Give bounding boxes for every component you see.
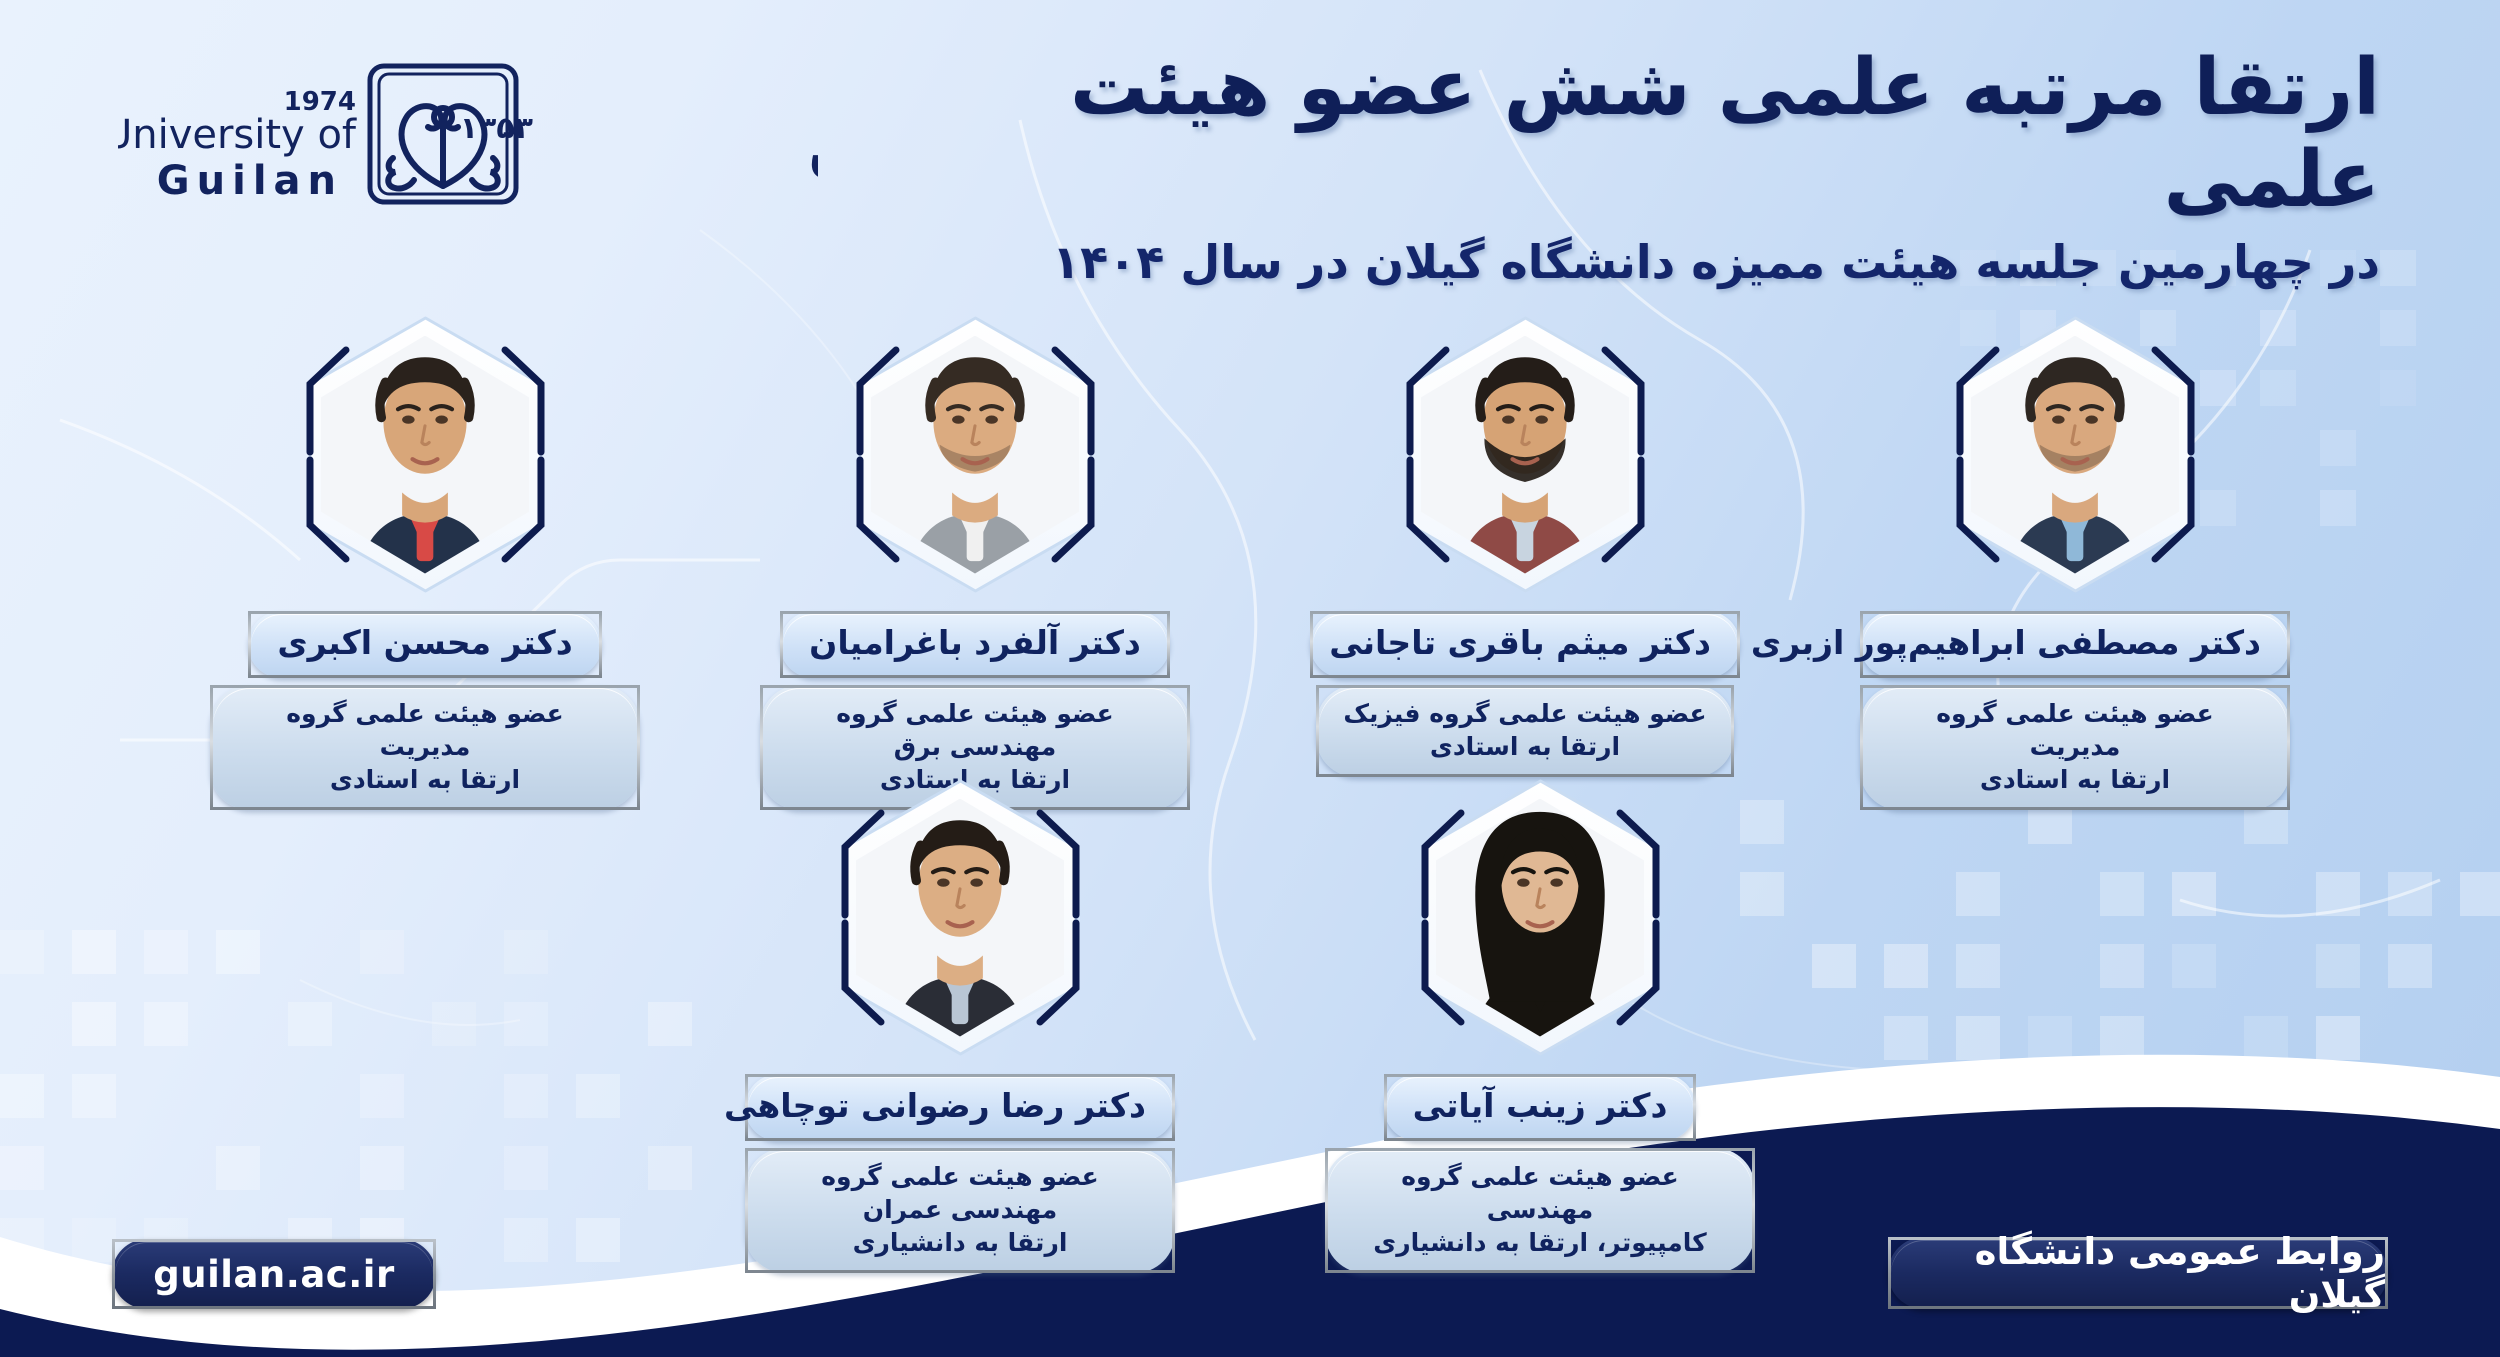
title-block: ارتقا مرتبه علمی شش عضو هیئت علمی در چها… <box>960 42 2380 292</box>
faculty-department: عضو هیئت علمی گروه مهندسی برق <box>787 697 1163 763</box>
faculty-photo-frame <box>298 312 553 597</box>
public-relations-label: روابط عمومی دانشگاه گیلان <box>1891 1230 2385 1316</box>
faculty-card: دکتر محسن اکبری عضو هیئت علمی گروه مدیری… <box>190 312 660 810</box>
faculty-department: عضو هیئت علمی گروه مدیریت <box>237 697 613 763</box>
faculty-photo-frame <box>1413 775 1668 1060</box>
faculty-promotion: ارتقا به دانشیاری <box>772 1226 1148 1259</box>
faculty-photo-frame <box>833 775 1088 1060</box>
faculty-name-pill: دکتر میثم باقری تاجانی <box>1310 611 1740 678</box>
faculty-name-pill: دکتر زینب آیاتی <box>1384 1074 1697 1141</box>
logo-year-fa: ۱۳۵۳ <box>460 111 533 146</box>
faculty-card: دکتر میثم باقری تاجانی عضو هیئت علمی گرو… <box>1290 312 1760 810</box>
faculty-card: دکتر مصطفی ابراهیم‌پور ازبری عضو هیئت عل… <box>1840 312 2310 810</box>
public-relations-badge[interactable]: روابط عمومی دانشگاه گیلان <box>1888 1237 2388 1309</box>
university-logo: 1974 University of Guilan ۱۳۵۳ دانشگاه گ… <box>118 38 818 208</box>
faculty-role-pill: عضو هیئت علمی گروه مهندسی عمران ارتقا به… <box>745 1148 1175 1273</box>
faculty-role-pill: عضو هیئت علمی گروه فیزیک ارتقا به استادی <box>1316 685 1733 777</box>
faculty-card: دکتر زینب آیاتی عضو هیئت علمی گروه مهندس… <box>1305 775 1775 1273</box>
faculty-photo-frame <box>848 312 1103 597</box>
page-title: ارتقا مرتبه علمی شش عضو هیئت علمی <box>960 42 2380 226</box>
faculty-name-pill: دکتر مصطفی ابراهیم‌پور ازبری <box>1860 611 2290 678</box>
faculty-promotion: ارتقا به استادی <box>1343 730 1706 763</box>
faculty-promotion: کامپیوتر، ارتقا به دانشیاری <box>1352 1226 1728 1259</box>
faculty-row-bottom: دکتر زینب آیاتی عضو هیئت علمی گروه مهندس… <box>0 775 2500 1273</box>
faculty-name-pill: دکتر محسن اکبری <box>248 611 601 678</box>
faculty-photo-frame <box>1398 312 1653 597</box>
page-subtitle: در چهارمین جلسه هیئت ممیزه دانشگاه گیلان… <box>960 234 2380 292</box>
logo-artwork: 1974 University of Guilan ۱۳۵۳ دانشگاه گ… <box>118 38 818 208</box>
website-button[interactable]: guilan.ac.ir <box>112 1239 436 1309</box>
poster-canvas: 1974 University of Guilan ۱۳۵۳ دانشگاه گ… <box>0 0 2500 1357</box>
faculty-department: عضو هیئت علمی گروه مهندسی عمران <box>772 1160 1148 1226</box>
faculty-department: عضو هیئت علمی گروه فیزیک <box>1343 697 1706 730</box>
faculty-row-top: دکتر مصطفی ابراهیم‌پور ازبری عضو هیئت عل… <box>0 312 2500 810</box>
faculty-name-pill: دکتر رضا رضوانی توچاهی <box>745 1074 1175 1141</box>
faculty-department: عضو هیئت علمی گروه مدیریت <box>1887 697 2263 763</box>
logo-line1-en: University of <box>118 112 357 158</box>
mosaic-square <box>2380 250 2416 286</box>
faculty-name-pill: دکتر آلفرد باغرامیان <box>780 611 1170 678</box>
logo-line2-en: Guilan <box>157 158 343 204</box>
faculty-department: عضو هیئت علمی گروه مهندسی <box>1352 1160 1728 1226</box>
faculty-card: دکتر آلفرد باغرامیان عضو هیئت علمی گروه … <box>740 312 1210 810</box>
faculty-photo-frame <box>1948 312 2203 597</box>
faculty-role-pill: عضو هیئت علمی گروه مهندسی کامپیوتر، ارتق… <box>1325 1148 1755 1273</box>
faculty-card: دکتر رضا رضوانی توچاهی عضو هیئت علمی گرو… <box>725 775 1195 1273</box>
website-label: guilan.ac.ir <box>153 1253 394 1296</box>
logo-name-fa: دانشگاه گیلان <box>808 112 818 185</box>
